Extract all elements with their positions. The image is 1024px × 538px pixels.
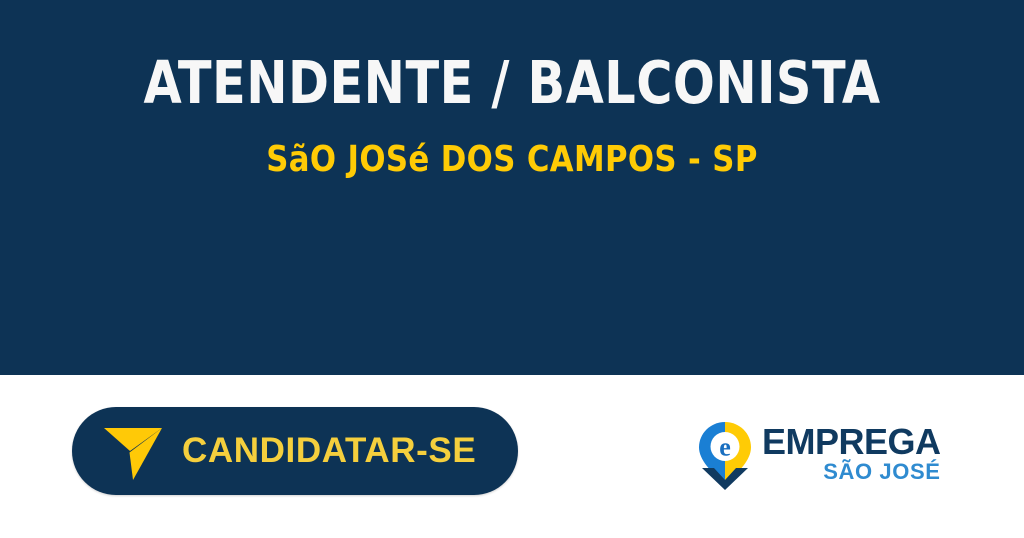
apply-button[interactable]: CANDIDATAR-SE xyxy=(72,407,518,495)
brand-name: EMPREGA xyxy=(762,424,941,459)
page-title: ATENDENTE / BALCONISTA xyxy=(36,52,988,114)
hero-text-block: ATENDENTE / BALCONISTA SãO JOSé DOS CAMP… xyxy=(0,0,1024,180)
job-vacancy-card: ATENDENTE / BALCONISTA SãO JOSé DOS CAMP… xyxy=(0,0,1024,538)
apply-button-label: CANDIDATAR-SE xyxy=(182,431,476,471)
brand-tagline: SÃO JOSÉ xyxy=(823,460,940,483)
job-location-subtitle: SãO JOSé DOS CAMPOS - SP xyxy=(26,114,999,180)
brand-logo: e EMPREGA SÃO JOSÉ xyxy=(694,420,910,492)
hero-banner: ATENDENTE / BALCONISTA SãO JOSé DOS CAMP… xyxy=(0,0,1024,375)
send-icon xyxy=(100,418,166,484)
svg-text:e: e xyxy=(719,433,731,462)
map-pin-e-icon: e xyxy=(694,420,756,490)
brand-wordmark: EMPREGA SÃO JOSÉ xyxy=(762,420,941,483)
